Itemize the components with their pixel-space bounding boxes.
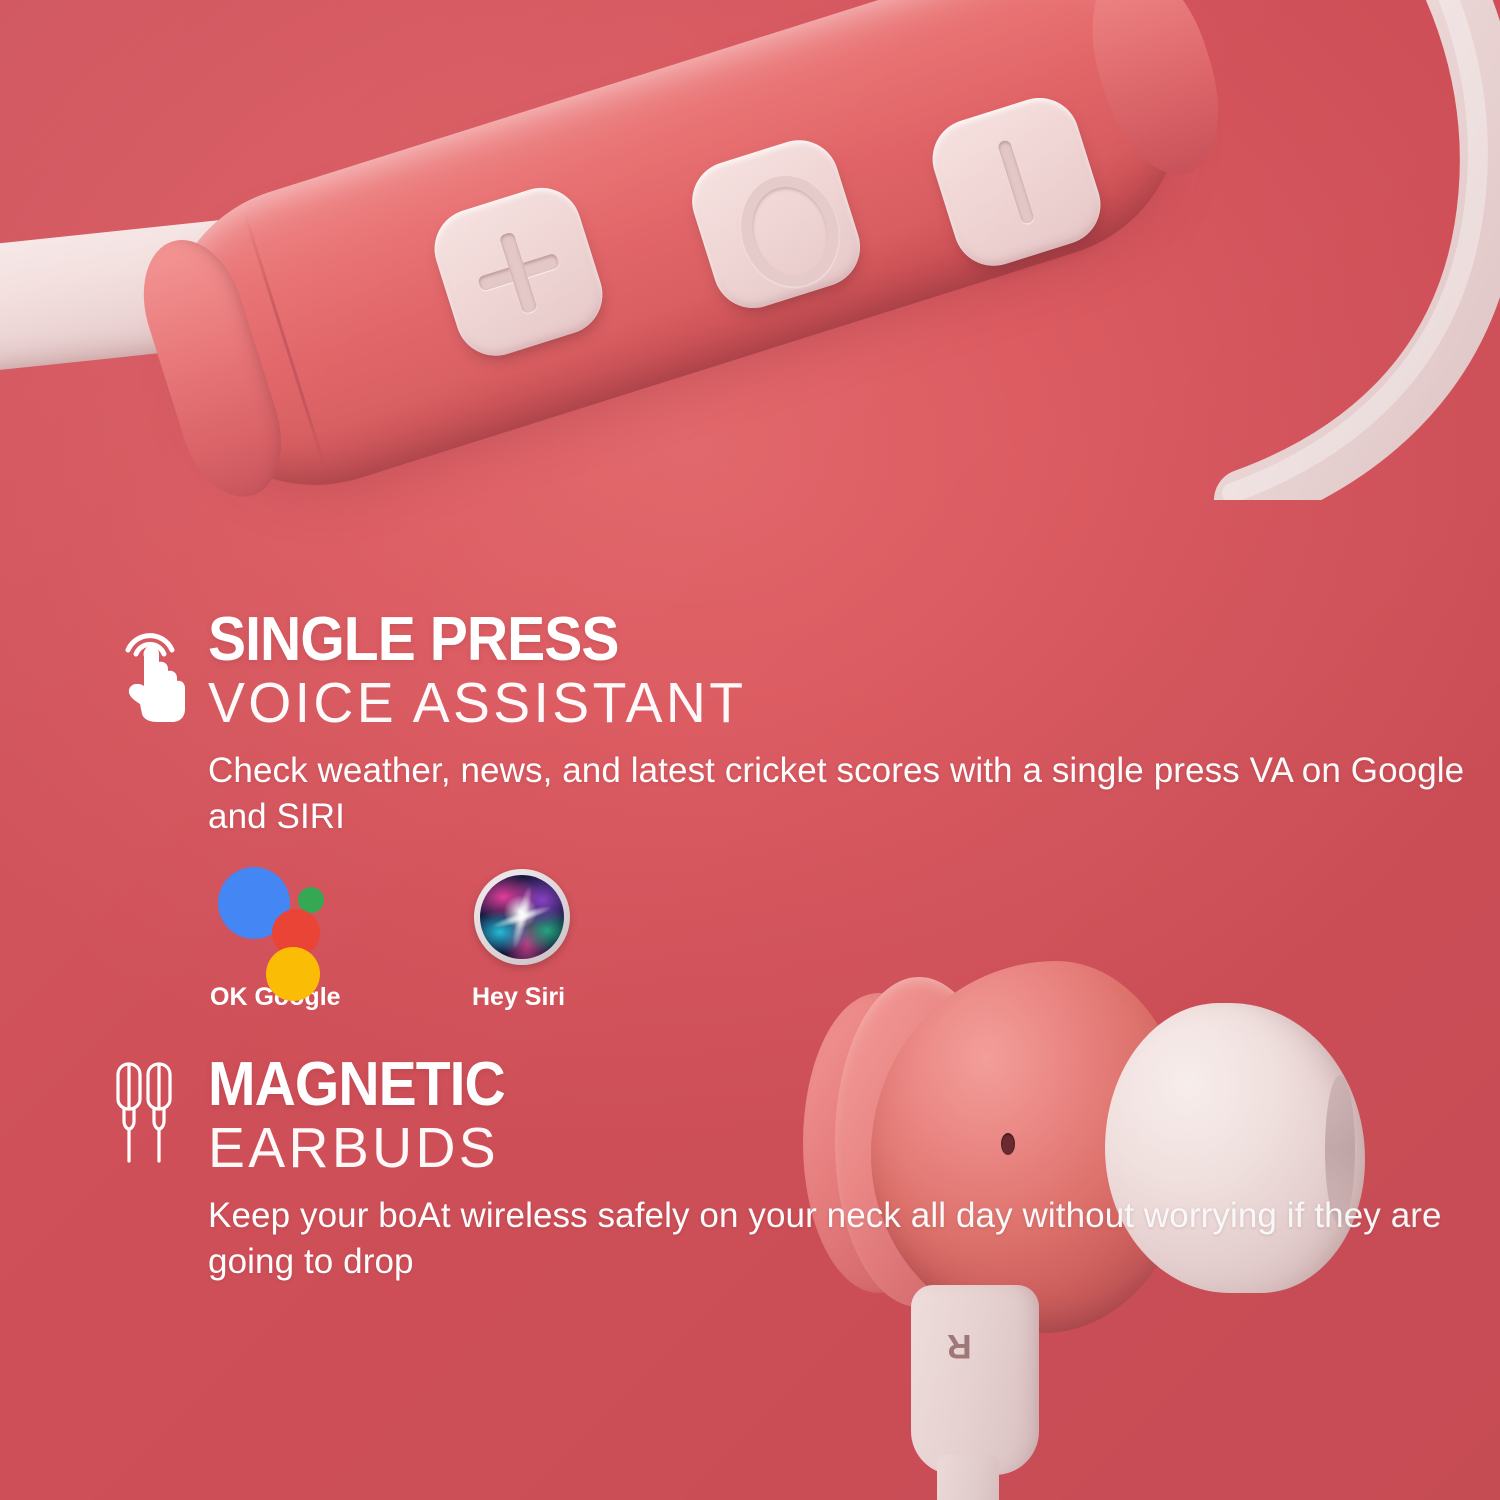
assistant-google[interactable]: OK Google <box>210 865 386 1010</box>
earbud-wire <box>937 1455 999 1500</box>
feature-text-block: MAGNETIC EARBUDS Keep your boAt wireless… <box>208 1055 1500 1284</box>
siri-icon <box>390 865 566 977</box>
google-assistant-yellow-dot <box>266 947 320 1001</box>
assistant-label: Hey Siri <box>472 985 566 1010</box>
right-channel-marking: R <box>947 1329 972 1363</box>
cable-left-segment <box>0 214 296 377</box>
inline-remote-control <box>127 0 1219 523</box>
feature-title-bold: MAGNETIC <box>208 1055 1397 1116</box>
siri-orb <box>474 869 570 965</box>
circle-icon <box>727 163 852 299</box>
volume-down-button[interactable] <box>922 88 1110 276</box>
volume-up-button[interactable] <box>424 178 612 366</box>
product-feature-banner: R SINGLE PRESS VOICE ASSISTANT Check wea… <box>0 0 1500 1500</box>
feature-title-thin: VOICE ASSISTANT <box>208 673 1461 735</box>
feature-title-thin: EARBUDS <box>208 1118 1461 1180</box>
multifunction-button[interactable] <box>682 130 870 318</box>
earbud-stem: R <box>911 1285 1039 1475</box>
siri-orb-core <box>480 875 564 959</box>
remote-seam <box>242 210 330 480</box>
feature-magnetic: MAGNETIC EARBUDS Keep your boAt wireless… <box>108 1055 1500 1284</box>
remote-end-cap <box>127 227 299 510</box>
magnetic-earbuds-icon <box>108 1059 192 1169</box>
feature-description: Keep your boAt wireless safely on your n… <box>208 1193 1500 1284</box>
plus-icon <box>477 253 560 292</box>
neckband-cable-arc <box>1055 0 1500 500</box>
plus-icon-stroke <box>499 232 538 315</box>
tap-press-icon <box>108 614 192 724</box>
remote-tail <box>1070 0 1240 190</box>
feature-single-press: SINGLE PRESS VOICE ASSISTANT Check weath… <box>108 610 1500 1010</box>
google-assistant-icon <box>210 865 386 977</box>
feature-text-block: SINGLE PRESS VOICE ASSISTANT Check weath… <box>208 610 1500 1010</box>
assistant-logo-row: OK Google Hey Siri <box>210 865 1500 1010</box>
feature-description: Check weather, news, and latest cricket … <box>208 748 1500 839</box>
assistant-siri[interactable]: Hey Siri <box>390 865 566 1010</box>
bar-icon <box>997 139 1035 225</box>
remote-body <box>127 0 1219 523</box>
feature-title-bold: SINGLE PRESS <box>208 610 1397 671</box>
